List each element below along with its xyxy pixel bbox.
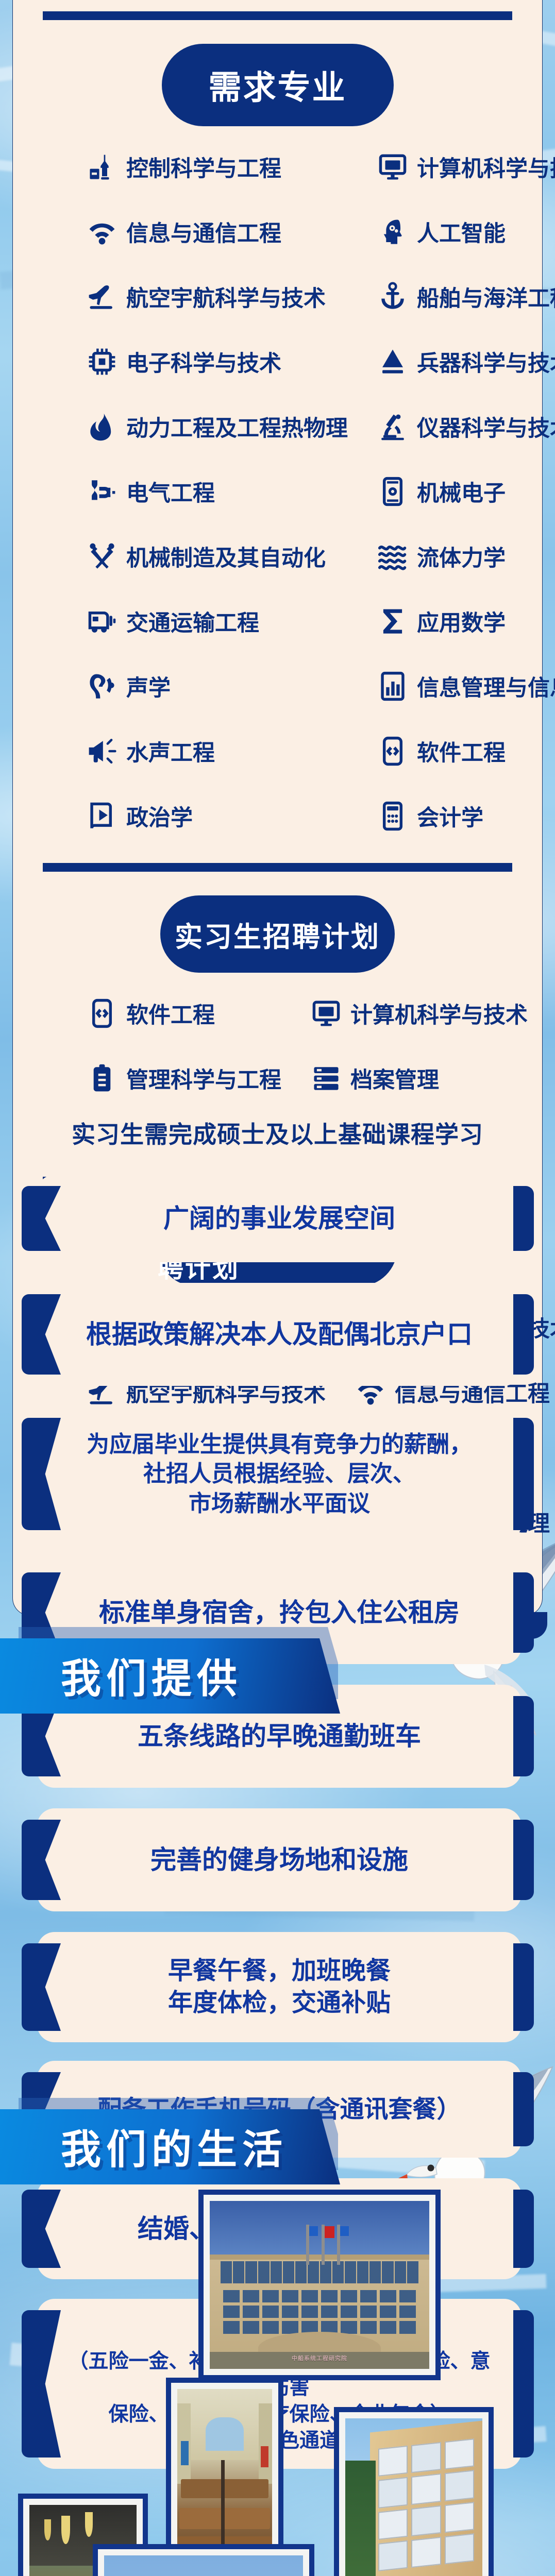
benefit-card: 早餐午餐，加班晚餐年度体检，交通补贴 (37, 1932, 522, 2042)
control-engineering-icon (87, 152, 117, 182)
major-item-label: 流体力学 (417, 540, 506, 572)
bar-chart-icon (378, 671, 408, 701)
majors-grid: 控制科学与工程计算机科学与技术信息与通信工程人工智能航空宇航科学与技术船舶与海洋… (40, 147, 515, 836)
major-item: 信息与通信工程 (40, 212, 348, 252)
major-item-label: 电气工程 (126, 476, 215, 507)
mechatronics-icon (378, 477, 408, 506)
wifi-icon (87, 217, 117, 247)
headquarters-photo-caption: 中船系统工程研究院 (210, 2355, 429, 2362)
plug-icon (87, 477, 117, 506)
dormitory-photo (345, 2418, 482, 2576)
major-item: 软件工程 (40, 993, 281, 1033)
major-item: 计算机科学与技术 (281, 993, 528, 1033)
book-play-icon (87, 801, 117, 831)
banner-offer-title: 我们提供 (61, 1647, 242, 1704)
major-item-label: 航空宇航科学与技术 (126, 281, 326, 313)
major-item-label: 信息与通信工程 (126, 216, 281, 248)
waves-icon (378, 541, 408, 571)
major-item: 兵器科学与技术 (348, 342, 555, 382)
office-tower-photo (104, 2555, 303, 2576)
intern-grid: 软件工程计算机科学与技术管理科学与工程档案管理 (40, 993, 515, 1098)
major-item: 计算机科学与技术 (348, 147, 555, 187)
major-item-label: 动力工程及工程热物理 (126, 411, 348, 443)
bus-icon (87, 606, 117, 636)
benefit-card-arrow-tab (22, 1943, 61, 2031)
major-item: 电气工程 (40, 471, 348, 512)
sigma-icon (378, 606, 408, 636)
office-tower-photo-frame[interactable] (93, 2544, 314, 2576)
badge-intern: 实习生招聘计划 (160, 895, 395, 973)
major-item-label: 应用数学 (417, 605, 506, 637)
major-item: 水声工程 (40, 731, 348, 771)
megaphone-icon (87, 736, 117, 766)
major-item: 管理科学与工程 (40, 1058, 281, 1098)
benefit-card-arrow-tab (22, 1186, 61, 1251)
major-item-label: 人工智能 (417, 216, 506, 248)
benefit-card: 为应届毕业生提供具有竞争力的薪酬，社招人员根据经验、层次、市场薪酬水平面议 (37, 1406, 522, 1541)
benefit-card-text: 广阔的事业发展空间 (132, 1202, 426, 1235)
major-item-label: 电子科学与技术 (126, 346, 281, 378)
major-item-label: 政治学 (126, 800, 193, 832)
major-item: 电子科学与技术 (40, 342, 348, 382)
major-item-label: 会计学 (417, 800, 483, 832)
benefit-card-right-tab (513, 1294, 534, 1375)
benefit-card-text: 早餐午餐，加班晚餐年度体检，交通补贴 (137, 1955, 422, 2020)
divider-after-majors (43, 863, 512, 872)
major-item: 档案管理 (281, 1058, 528, 1098)
benefit-card-text: 完善的健身场地和设施 (120, 1843, 439, 1877)
major-item: 流体力学 (348, 536, 555, 577)
benefit-card: 根据政策解决本人及配偶北京户口 (37, 1283, 522, 1386)
microscope-icon (378, 412, 408, 442)
benefit-card-right-tab (513, 1820, 534, 1900)
major-item: 控制科学与工程 (40, 147, 348, 187)
major-item-label: 档案管理 (350, 1062, 439, 1094)
major-item: 政治学 (40, 796, 348, 836)
major-item-label: 机械制造及其自动化 (126, 540, 326, 572)
benefit-card: 广阔的事业发展空间 (37, 1175, 522, 1262)
major-item-label: 计算机科学与技术 (417, 151, 555, 183)
ear-sound-icon (87, 671, 117, 701)
dormitory-photo-frame[interactable] (334, 2407, 494, 2576)
major-item: 软件工程 (348, 731, 555, 771)
intern-note: 实习生需完成硕士及以上基础课程学习 (13, 1116, 542, 1150)
major-item-label: 管理科学与工程 (126, 1062, 281, 1094)
ai-head-icon (378, 217, 408, 247)
major-item-label: 仪器科学与技术 (417, 411, 555, 443)
banner-we-offer: 我们提供 (0, 1622, 555, 1730)
server-icon (311, 1063, 341, 1093)
code-brackets-icon (87, 998, 117, 1028)
monitor-icon (311, 998, 341, 1028)
benefit-card: 完善的健身场地和设施 (37, 1808, 522, 1911)
major-item: 动力工程及工程热物理 (40, 406, 348, 447)
major-item: 仪器科学与技术 (348, 406, 555, 447)
chip-icon (87, 347, 117, 377)
major-item-label: 控制科学与工程 (126, 151, 281, 183)
major-item: 机械制造及其自动化 (40, 536, 348, 577)
code-brackets-icon (378, 736, 408, 766)
banner-life-title: 我们的生活 (61, 2117, 288, 2175)
benefit-card-arrow-tab (22, 2190, 61, 2268)
headquarters-photo: 中船系统工程研究院 (210, 2201, 429, 2369)
major-item-label: 水声工程 (126, 735, 215, 767)
benefit-card-right-tab (513, 2190, 534, 2268)
benefit-card-text: 根据政策解决本人及配偶北京户口 (55, 1318, 503, 1351)
major-item: 船舶与海洋工程 (348, 277, 555, 317)
major-item-label: 机械电子 (417, 476, 506, 507)
clipboard-icon (87, 1063, 117, 1093)
benefit-card-right-tab (513, 1943, 534, 2031)
airplane-icon (87, 282, 117, 312)
major-item-label: 软件工程 (126, 997, 215, 1029)
headquarters-photo-frame[interactable]: 中船系统工程研究院 (198, 2190, 441, 2380)
flame-icon (87, 412, 117, 442)
major-item-label: 兵器科学与技术 (417, 346, 555, 378)
major-item-label: 信息管理与信息系统 (417, 670, 555, 702)
benefit-card-arrow-tab (22, 1418, 61, 1530)
calculator-icon (378, 801, 408, 831)
major-item-label: 软件工程 (417, 735, 506, 767)
major-item-label: 交通运输工程 (126, 605, 259, 637)
banner-our-life: 我们的生活 (0, 2093, 555, 2201)
anchor-icon (378, 282, 408, 312)
badge-majors: 需求专业 (162, 44, 394, 126)
major-item: 机械电子 (348, 471, 555, 512)
major-item: 交通运输工程 (40, 601, 348, 641)
wrench-cross-icon (87, 541, 117, 571)
monitor-icon (378, 152, 408, 182)
benefit-card-right-tab (513, 1418, 534, 1530)
major-item: 声学 (40, 666, 348, 706)
major-item-label: 声学 (126, 670, 171, 702)
major-item-label: 船舶与海洋工程 (417, 281, 555, 313)
missile-icon (378, 347, 408, 377)
major-item: 人工智能 (348, 212, 555, 252)
major-item: 信息管理与信息系统 (348, 666, 555, 706)
benefit-card-right-tab (513, 1186, 534, 1251)
top-rule (43, 11, 512, 20)
benefit-card-arrow-tab (22, 1820, 61, 1900)
major-item: 航空宇航科学与技术 (40, 277, 348, 317)
major-item-label: 计算机科学与技术 (350, 997, 528, 1029)
major-item: 应用数学 (348, 601, 555, 641)
benefit-card-text: 为应届毕业生提供具有竞争力的薪酬，社招人员根据经验、层次、市场薪酬水平面议 (56, 1430, 503, 1518)
major-item: 会计学 (348, 796, 555, 836)
